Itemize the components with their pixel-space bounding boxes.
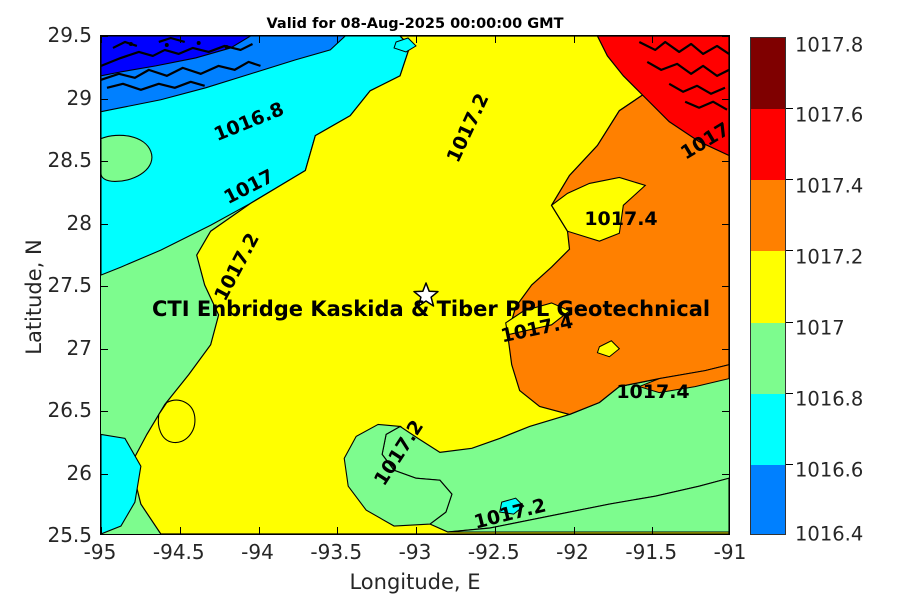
y-axis-label: Latitude, N [22, 177, 46, 417]
xtick-top-6 [574, 36, 575, 43]
yticklabel-1: 26 [0, 461, 92, 485]
colorbar-band-1017p4 [751, 180, 785, 251]
colorbar-label-1017p8: 1017.8 [795, 34, 863, 57]
xtick-top-4 [416, 36, 417, 43]
yticklabel-4: 27.5 [0, 273, 92, 297]
page-title: Valid for 08-Aug-2025 00:00:00 GMT [100, 16, 730, 32]
xtick-3 [337, 527, 338, 534]
ytick-right-7 [722, 99, 729, 100]
xticklabel-5: -92.5 [468, 540, 520, 564]
ytick-right-2 [722, 411, 729, 412]
xtick-2 [259, 527, 260, 534]
colorbar-label-1017p4: 1017.4 [795, 175, 863, 198]
xtick-6 [574, 527, 575, 534]
colorbar-label-1017p0: 1017 [795, 317, 845, 340]
xtick-top-3 [337, 36, 338, 43]
xtick-top-0 [101, 36, 102, 43]
xticklabel-7: -91.5 [625, 540, 677, 564]
colorbar-band-1017p8 [751, 38, 785, 109]
ytick-right-1 [722, 474, 729, 475]
colorbar-tick-1016p8 [786, 393, 793, 394]
yticklabel-0: 25.5 [0, 523, 92, 547]
colorbar-band-1017p2 [751, 251, 785, 322]
colorbar-band-1017p6 [751, 109, 785, 180]
yticklabel-5: 28 [0, 211, 92, 235]
xtick-top-1 [180, 36, 181, 43]
xticklabel-6: -92 [556, 540, 589, 564]
ytick-3 [101, 349, 108, 350]
colorbar-band-1016p6 [751, 465, 785, 535]
colorbar-tick-1017p6 [786, 108, 793, 109]
ytick-7 [101, 99, 108, 100]
yticklabel-3: 27 [0, 336, 92, 360]
ytick-6 [101, 161, 108, 162]
xtick-1 [180, 527, 181, 534]
ytick-right-3 [722, 349, 729, 350]
ytick-8 [101, 36, 108, 37]
colorbar-tick-1017p0 [786, 322, 793, 323]
ytick-4 [101, 286, 108, 287]
ytick-right-4 [722, 286, 729, 287]
ytick-right-8 [722, 36, 729, 37]
colorbar-label-1016p4: 1016.4 [795, 523, 863, 546]
xtick-7 [652, 527, 653, 534]
figure-canvas: Valid for 08-Aug-2025 00:00:00 GMT [0, 0, 900, 600]
xticklabel-1: -94.5 [153, 540, 205, 564]
colorbar-tick-1017p4 [786, 179, 793, 180]
colorbar-tick-1016p6 [786, 464, 793, 465]
ytick-2 [101, 411, 108, 412]
xtick-top-5 [495, 36, 496, 43]
colorbar-band-1017p0 [751, 323, 785, 394]
site-label: CTI Enbridge Kaskida & Tiber PPL Geotech… [152, 297, 710, 321]
xtick-0 [101, 527, 102, 534]
yticklabel-8: 29.5 [0, 23, 92, 47]
ytick-1 [101, 474, 108, 475]
colorbar-label-1016p6: 1016.6 [795, 459, 863, 482]
yticklabel-2: 26.5 [0, 398, 92, 422]
colorbar-tick-1017p2 [786, 250, 793, 251]
xticklabel-4: -93 [399, 540, 432, 564]
xticklabel-8: -91 [714, 540, 747, 564]
x-axis-label: Longitude, E [100, 570, 730, 594]
xtick-top-7 [652, 36, 653, 43]
ytick-5 [101, 224, 108, 225]
colorbar-label-1017p6: 1017.6 [795, 104, 863, 127]
colorbar-label-1017p2: 1017.2 [795, 246, 863, 269]
xticklabel-2: -94 [241, 540, 274, 564]
xticklabel-3: -93.5 [310, 540, 362, 564]
xtick-5 [495, 527, 496, 534]
colorbar-band-1016p8 [751, 394, 785, 465]
ytick-right-5 [722, 224, 729, 225]
colorbar[interactable] [750, 37, 786, 535]
xtick-4 [416, 527, 417, 534]
yticklabel-7: 29 [0, 86, 92, 110]
yticklabel-6: 28.5 [0, 148, 92, 172]
colorbar-label-1016p8: 1016.8 [795, 388, 863, 411]
xtick-top-2 [259, 36, 260, 43]
ytick-right-6 [722, 161, 729, 162]
